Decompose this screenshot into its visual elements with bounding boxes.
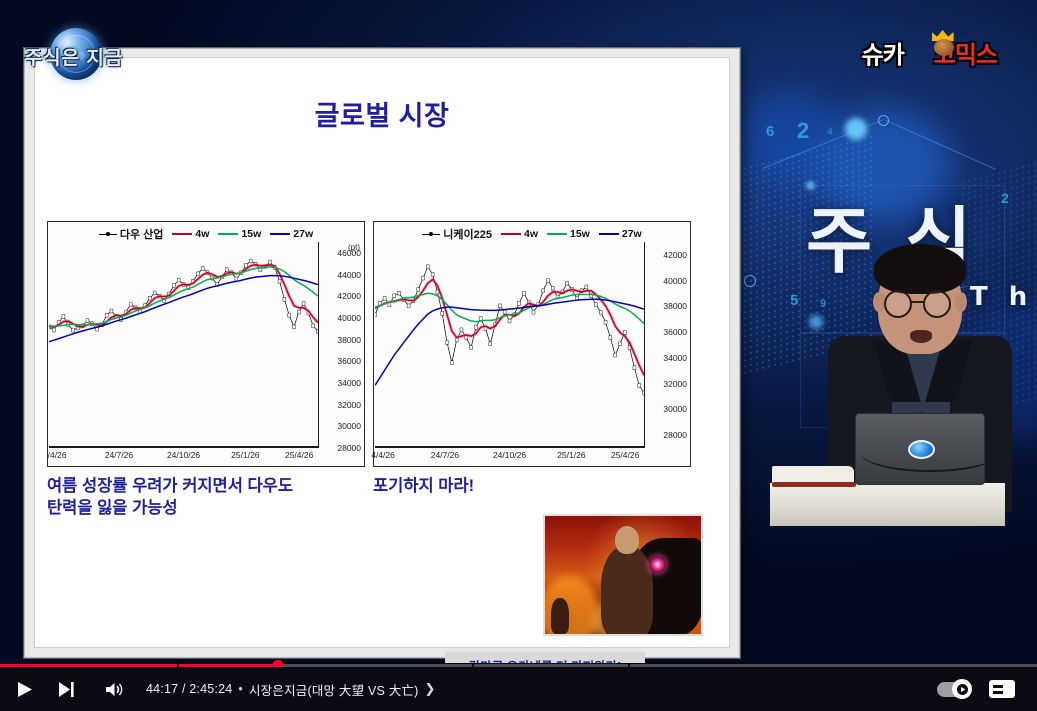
legend-item-dow-series: 다우 산업 xyxy=(99,226,164,242)
channel-watermark-left: 주식은 지금 xyxy=(14,28,134,80)
y-tick-label: 28000 xyxy=(337,443,361,453)
book-spine xyxy=(772,482,856,487)
legend-swatch-27w-icon xyxy=(270,233,290,235)
legend-swatch-27w-icon xyxy=(599,233,619,235)
chart-nikkei-y-axis: 4200040000380003600034000320003000028000 xyxy=(644,242,690,448)
channel-logo-right: 슈카 코믹스 xyxy=(862,30,997,74)
x-tick-label: 24/7/26 xyxy=(105,450,133,460)
screenshot-root: 6 2 4 2 5 9 주 식 T h xyxy=(0,0,1037,711)
y-tick-label: 34000 xyxy=(663,353,687,363)
y-tick-label: 32000 xyxy=(663,379,687,389)
legend-marker-line-icon xyxy=(99,234,117,235)
y-tick-label: 36000 xyxy=(663,327,687,337)
legend-label-4w: 4w xyxy=(195,228,209,240)
next-video-button[interactable] xyxy=(48,671,84,707)
y-tick-label: 32000 xyxy=(337,400,361,410)
chevron-right-icon[interactable]: ❯ xyxy=(425,681,436,697)
legend-marker-line-icon xyxy=(422,234,440,235)
crown-face-icon xyxy=(934,39,954,56)
person-glasses-bridge xyxy=(911,301,924,303)
chart-nikkei-plot-area xyxy=(375,244,644,446)
backdrop-number-2: 4 xyxy=(827,127,833,138)
y-tick-label: 38000 xyxy=(337,335,361,345)
chart-nikkei-legend: 니케이225 4w 15w 27w xyxy=(374,226,690,242)
video-title[interactable]: 시장은지금(대망 大望 VS 大亡) xyxy=(249,680,419,699)
x-tick-label: 24/10/26 xyxy=(493,450,526,460)
legend-swatch-15w-icon xyxy=(218,233,238,235)
channel-watermark-text: 주식은 지금 xyxy=(14,43,134,70)
video-player-surface[interactable]: 6 2 4 2 5 9 주 식 T h xyxy=(0,0,1037,663)
crown-icon xyxy=(932,30,960,56)
presentation-slide: 글로벌 시장 다우 산업 4w 15 xyxy=(24,48,740,658)
slide-content-area: 글로벌 시장 다우 산업 4w 15 xyxy=(34,57,730,648)
y-tick-label: 42000 xyxy=(663,250,687,260)
legend-label-nikkei: 니케이225 xyxy=(443,226,492,242)
anime-illustration xyxy=(543,514,703,636)
y-tick-label: 28000 xyxy=(663,430,687,440)
x-tick-label: /4/26 xyxy=(48,450,67,460)
volume-button[interactable] xyxy=(96,671,132,707)
legend-label-dow: 다우 산업 xyxy=(120,226,164,242)
x-tick-label: 24/7/26 xyxy=(431,450,459,460)
chart-nikkei-svg xyxy=(375,244,644,446)
person-glasses-right xyxy=(923,290,951,318)
person-mouth xyxy=(910,330,932,343)
legend-label-4w: 4w xyxy=(524,228,538,240)
legend-swatch-4w-icon xyxy=(172,233,192,235)
chart-dow-y-axis: (pt) 46000440004200040000380003600034000… xyxy=(318,242,364,448)
x-tick-label: 4/4/26 xyxy=(371,450,395,460)
autoplay-knob xyxy=(952,679,972,699)
backdrop-network-line-1 xyxy=(886,120,996,170)
x-tick-label: 25/1/26 xyxy=(231,450,259,460)
chart-dow-x-axis xyxy=(49,446,318,448)
y-tick-label: 34000 xyxy=(337,378,361,388)
chart-nikkei-225: 니케이225 4w 15w 27w xyxy=(373,221,691,467)
figure-eye-orb xyxy=(649,556,666,573)
volume-icon xyxy=(105,681,124,698)
person-hair xyxy=(874,244,966,294)
legend-swatch-15w-icon xyxy=(547,233,567,235)
backdrop-number-0: 6 xyxy=(766,123,774,140)
slide-title: 글로벌 시장 xyxy=(35,94,729,133)
time-and-title: 44:17 / 2:45:24 • 시장은지금(대망 大望 VS 大亡) ❯ xyxy=(146,680,436,699)
backdrop-network-node-2 xyxy=(744,275,756,287)
legend-swatch-4w-icon xyxy=(501,233,521,235)
chart-dow-plot-area xyxy=(49,244,318,446)
legend-label-15w: 15w xyxy=(241,228,261,240)
title-separator: • xyxy=(238,682,243,696)
x-tick-label: 24/10/26 xyxy=(167,450,200,460)
y-tick-label: 42000 xyxy=(337,291,361,301)
chart-dow-svg xyxy=(49,244,318,446)
player-controls-bar: 44:17 / 2:45:24 • 시장은지금(대망 大望 VS 大亡) ❯ xyxy=(0,667,1037,711)
legend-label-27w: 27w xyxy=(293,228,313,240)
x-tick-label: 25/1/26 xyxy=(557,450,585,460)
subtitles-button[interactable] xyxy=(989,680,1015,698)
play-icon xyxy=(16,681,33,698)
legend-item-dow-4w: 4w xyxy=(172,228,209,240)
autoplay-toggle[interactable] xyxy=(937,682,971,697)
legend-item-nikkei-4w: 4w xyxy=(501,228,538,240)
chart-dow-legend: 다우 산업 4w 15w 27w xyxy=(48,226,364,242)
backdrop-number-1: 2 xyxy=(797,118,809,144)
x-tick-label: 25/4/26 xyxy=(611,450,639,460)
legend-item-nikkei-series: 니케이225 xyxy=(422,226,492,242)
legend-item-nikkei-15w: 15w xyxy=(547,228,590,240)
y-tick-label: 30000 xyxy=(663,404,687,414)
y-tick-label: 44000 xyxy=(337,270,361,280)
y-tick-label: 40000 xyxy=(337,313,361,323)
studio-desk xyxy=(770,483,1005,526)
channel-logo-text-1: 슈카 xyxy=(862,35,904,70)
caption-left: 여름 성장률 우려가 커지면서 다우도 탄력을 잃을 가능성 xyxy=(47,476,367,520)
legend-item-dow-15w: 15w xyxy=(218,228,261,240)
y-tick-label: 36000 xyxy=(337,356,361,366)
chart-dow-industrial: 다우 산업 4w 15w 27w xyxy=(47,221,365,467)
time-display: 44:17 / 2:45:24 xyxy=(146,682,232,696)
next-icon xyxy=(58,681,75,698)
person-glasses-left xyxy=(884,290,912,318)
y-tick-label: 46000 xyxy=(337,248,361,258)
person-ear-right xyxy=(955,292,967,312)
y-tick-label: 40000 xyxy=(663,276,687,286)
autoplay-play-icon xyxy=(957,684,968,695)
x-tick-label: 25/4/26 xyxy=(285,450,313,460)
figure-small-character xyxy=(551,598,569,634)
caption-right: 포기하지 마라! xyxy=(373,476,673,498)
legend-label-15w: 15w xyxy=(570,228,590,240)
legend-item-nikkei-27w: 27w xyxy=(599,228,642,240)
backdrop-number-4: 5 xyxy=(790,292,798,309)
laptop-cable xyxy=(860,432,1000,472)
y-tick-label: 30000 xyxy=(337,421,361,431)
y-tick-label: 38000 xyxy=(663,301,687,311)
legend-label-27w: 27w xyxy=(622,228,642,240)
chart-nikkei-x-tick-labels: 4/4/2624/7/2624/10/2625/1/2625/4/26 xyxy=(375,450,644,464)
figure-torso xyxy=(601,546,653,636)
legend-item-dow-27w: 27w xyxy=(270,228,313,240)
chart-dow-x-tick-labels: /4/2624/7/2624/10/2625/1/2625/4/26 xyxy=(49,450,318,464)
figure-head xyxy=(615,526,639,554)
chart-nikkei-x-axis xyxy=(375,446,644,448)
play-button[interactable] xyxy=(6,671,42,707)
